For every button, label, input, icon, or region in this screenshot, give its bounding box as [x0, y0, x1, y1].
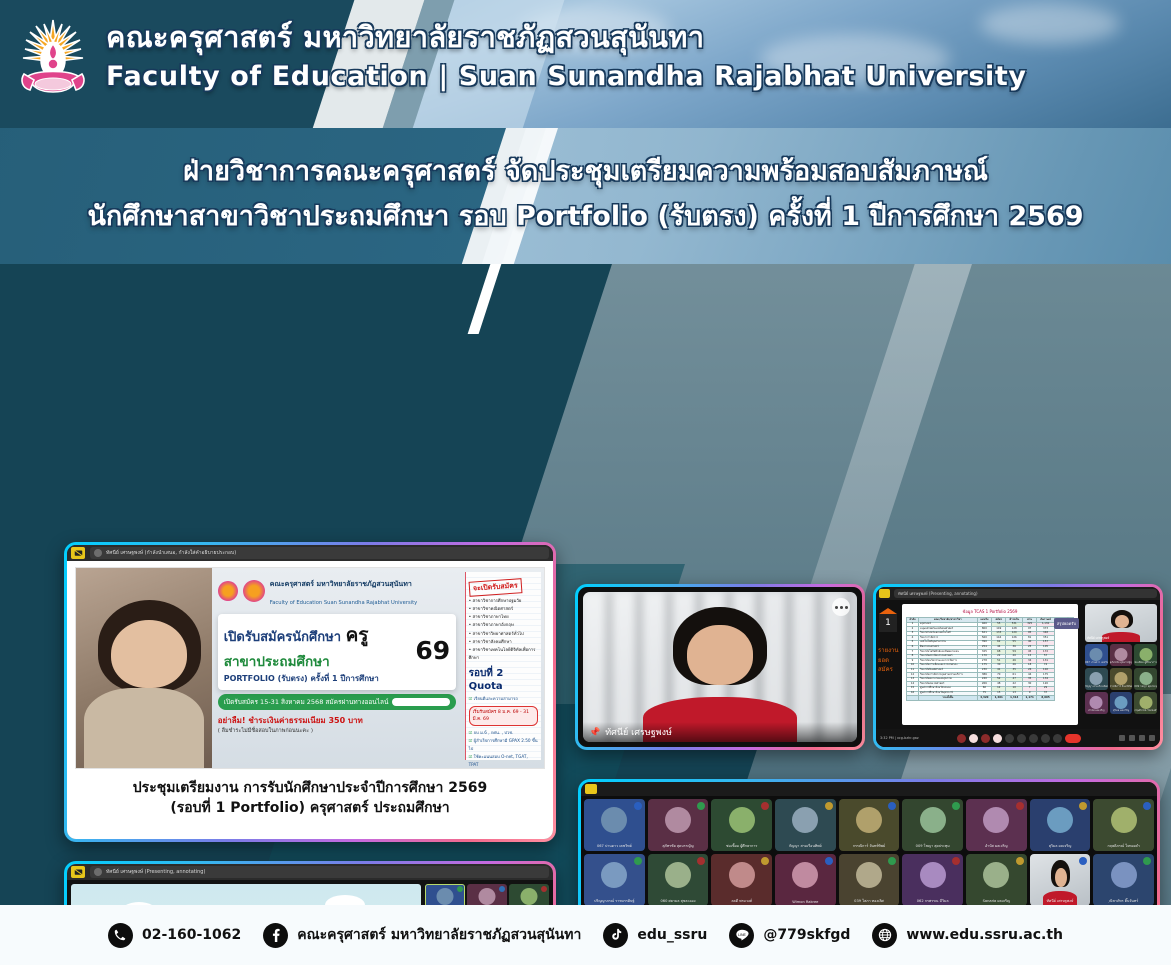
table-cell: [907, 696, 919, 701]
presenter-name: ทัศนีย์ เศรษฐพงษ์ (Presenting, annotatin…: [106, 868, 205, 876]
poster-requirements: จบ ม.6 , กศน. , ปวช. ผู้สำเร็จการศึกษามี…: [469, 729, 538, 769]
table-cell: 1,314: [1006, 696, 1023, 701]
participant-tile[interactable]: ทัศนีย์ เศรษฐพงษ์: [509, 884, 549, 905]
poster-caption: ประชุมเตรียมงาน การรับนักศึกษาประจำปีการ…: [75, 778, 545, 819]
avatar: [983, 862, 1009, 888]
shared-slide[interactable]: ประชุมกรรมการสัมภาษณ์ รับนศ.สาขาประถมศึก…: [71, 884, 421, 905]
participant-name: สุภัทรชัย สุดบรรญัญ: [1110, 661, 1133, 665]
poster-quota-label: รอบที่ 2: [469, 668, 504, 679]
header-title-block: คณะครุศาสตร์ มหาวิทยาลัยราชภัฏสวนสุนันทา…: [106, 18, 1027, 98]
admission-poster-image: คณะครุศาสตร์ มหาวิทยาลัยราชภัฏสวนสุนันทา…: [75, 567, 545, 769]
participant-name: 067 ปานดาว เตชวิทย์: [1085, 661, 1108, 665]
more-options-icon[interactable]: [832, 598, 850, 616]
avatar: [521, 888, 538, 905]
list-item: สาขาวิชาวิทยาศาสตร์ทั่วไป: [469, 631, 538, 639]
grid-wrapper: 067 ปานดาว เตชวิทย์สุภัทรชัย สุดบรรญัญช่…: [581, 796, 1157, 905]
participant-name: ลลดี พรมวงศ์: [711, 898, 772, 904]
mic-status-icon: [1079, 857, 1087, 865]
participant-name: อำนัส ผลเจริญ: [1085, 709, 1108, 713]
speaker-face: [1115, 615, 1129, 629]
avatar: [1139, 648, 1152, 661]
participant-name: 062 กรพรรณ มีวิมล: [902, 898, 963, 904]
report-right-controls[interactable]: [1119, 735, 1160, 741]
participant-tile[interactable]: 039 โสภา ทองเลิศ: [839, 854, 900, 905]
report-slide-title: ข้อมูล TCAS 1 Portfolio 2569: [906, 608, 1074, 615]
more-button[interactable]: [1053, 734, 1062, 743]
reactions-button[interactable]: [1017, 734, 1026, 743]
avatar: [856, 862, 882, 888]
phone-icon: [108, 923, 133, 948]
participant-name: ช่มเชื้อม ผู้ศึกษาการ: [711, 843, 772, 849]
screenshot-grid-panel[interactable]: 067 ปานดาว เตชวิทย์สุภัทรชัย สุดบรรญัญช่…: [578, 779, 1160, 905]
raise-hand-button[interactable]: [1041, 734, 1050, 743]
presenter-name-bar: 📌 ทัศนีย์ เศรษฐพงษ์: [583, 722, 857, 742]
footer-phone-text: 02-160-1062: [142, 927, 241, 943]
participant-tile[interactable]: อำนัส ผลเจริญ: [1085, 692, 1108, 714]
mic-status-icon: [761, 802, 769, 810]
line-icon: LINE: [729, 923, 754, 948]
table-cell: รวมทั้งสิ้น: [919, 696, 978, 701]
participant-tile[interactable]: กรรณิการ์ จันทร์ทิพย์: [839, 799, 900, 851]
avatar: [1114, 696, 1127, 709]
poster-caption-line1: ประชุมเตรียมงาน การรับนักศึกษาประจำปีการ…: [75, 778, 545, 798]
mic-status-icon: [541, 886, 547, 892]
header-title-thai: คณะครุศาสตร์ มหาวิทยาลัยราชภัฏสวนสุนันทา: [106, 18, 1027, 57]
list-item: สาขาวิชาการศึกษาปฐมวัย: [469, 598, 538, 606]
mic-status-icon: [1016, 857, 1024, 865]
screenshot-report-panel[interactable]: ทัศนีย์ เศรษฐพงษ์ (Presenting, annotatin…: [873, 584, 1163, 750]
list-item: สาขาวิชาภาษาอังกฤษ: [469, 622, 538, 630]
poster-round2-text: เริ่มรับสมัคร 8 ม.ค. 69 - 31 มี.ค. 69: [473, 710, 529, 722]
present-button[interactable]: [1005, 734, 1014, 743]
poster-org-thai: คณะครุศาสตร์ มหาวิทยาลัยราชภัฏสวนสุนันทา: [270, 580, 412, 588]
event-title-line2: นักศึกษาสาขาวิชาประถมศึกษา รอบ Portfolio…: [0, 195, 1171, 240]
footer-item-website[interactable]: www.edu.ssru.ac.th: [872, 923, 1063, 948]
avatar: [94, 868, 102, 876]
poster-side-column: จะเปิดรับสมัคร สาขาวิชาการศึกษาปฐมวัย สา…: [465, 572, 541, 760]
participant-name: ทัศนีย์ เศรษฐพงษ์: [1030, 898, 1091, 904]
list-item: สาขาวิชาเทคโนโลยีดิจิทัลเพื่อการศึกษา: [469, 647, 538, 663]
list-item: ใช้คะแนนสอบ O-net, TGAT, TPAT: [469, 753, 538, 769]
pin-icon: 📌: [589, 727, 600, 738]
grid-titlebar: [581, 782, 1157, 796]
participant-tile[interactable]: 067 ปานดาว เตชวิทย์: [1085, 644, 1108, 666]
participant-tile[interactable]: ลลดี พรมวงศ์: [711, 854, 772, 905]
avatar: [1090, 672, 1103, 685]
list-item: จบ ม.6 , กศน. , ปวช.: [469, 729, 538, 737]
table-cell: 1,401: [992, 696, 1006, 701]
mic-muted-icon[interactable]: [969, 734, 978, 743]
participant-tile[interactable]: สุภัทรชัย สุดบรรญัญ: [648, 799, 709, 851]
participant-name: สุภัทรชัย สุดบรรญัญ: [648, 843, 709, 849]
avatar: [479, 888, 496, 905]
cloud-shape: [325, 895, 365, 905]
ssru-emblem-logo: [16, 14, 90, 110]
avatar: [601, 862, 627, 888]
mic-status-icon: [457, 886, 463, 892]
participant-name: กฤษดิภรณ์ ใจทองคำ: [1093, 843, 1154, 849]
chat-icon[interactable]: [1139, 735, 1145, 741]
participant-tile[interactable]: กัญญา สามเรือนทิพย์: [1085, 668, 1108, 690]
participant-tile[interactable]: 009 โชญา สุดประทุม: [1134, 668, 1157, 690]
avatar: [1090, 648, 1103, 661]
list-item: สาขาวิชาสังคมศึกษา: [469, 639, 538, 647]
report-shared-screen: 1 รายงานยอดสมัคร ข้อมูล TCAS 1 Portfolio…: [876, 600, 1082, 747]
list-item: สาขาวิชาคณิตศาสตร์: [469, 606, 538, 614]
poster-fee-text: อย่าลืม! ชำระเงินค่าธรรมเนียม 350 บาท: [218, 716, 363, 725]
avatar: [920, 862, 946, 888]
page-footer: 02-160-1062 คณะครุศาสตร์ มหาวิทยาลัยราชภ…: [0, 905, 1171, 965]
participant-name: 009 โชญา สุดประทุม: [1134, 685, 1157, 689]
poster-quota-word: Quota: [469, 681, 503, 692]
participant-tile[interactable]: 060 ศยามล สุขละออง: [648, 854, 709, 905]
title-band: ฝ่ายวิชาการคณะครุศาสตร์ จัดประชุมเตรียมค…: [0, 128, 1171, 264]
presenter-video-tile[interactable]: 📌 ทัศนีย์ เศรษฐพงษ์: [583, 592, 857, 742]
poster-apply-text: เปิดรับสมัคร 15-31 สิงหาคม 2568 สมัครผ่า…: [224, 697, 389, 707]
participant-tile[interactable]: กฤษดิภรณ์ ใจทองคำ: [1134, 692, 1157, 714]
avatar: [1139, 672, 1152, 685]
poster-round2-bar: เริ่มรับสมัคร 8 ม.ค. 69 - 31 มี.ค. 69: [469, 706, 538, 726]
table-body: 1ครุศาสตร์460555313251,1302มนุษยศาสตร์แล…: [907, 622, 1074, 700]
screenshot-slide-panel[interactable]: ทัศนีย์ เศรษฐพงษ์ (Presenting, annotatin…: [64, 861, 556, 905]
screenshot-presenter-panel[interactable]: 📌 ทัศนีย์ เศรษฐพงษ์: [575, 584, 865, 750]
page-header: คณะครุศาสตร์ มหาวิทยาลัยราชภัฏสวนสุนันทา…: [0, 0, 1171, 128]
mic-status-icon: [888, 802, 896, 810]
poster-org-english: Faculty of Education Suan Sunandha Rajab…: [270, 600, 417, 606]
poster-quota-sub1: เรียนดีและความสามารถ: [469, 695, 538, 703]
participant-name: สุวิมล ผลเจริญ: [1110, 709, 1133, 713]
poster-majors-list: สาขาวิชาการศึกษาปฐมวัย สาขาวิชาคณิตศาสตร…: [469, 598, 538, 663]
avatar: [1090, 696, 1103, 709]
participant-tile[interactable]: กรรณิการ์ จันทร์ทิพย์: [1110, 668, 1133, 690]
list-item: ผู้สำเร็จการศึกษามี GPAX 2.50 ขึ้นไป: [469, 737, 538, 753]
apps-button[interactable]: [1029, 734, 1038, 743]
participant-tile[interactable]: สุวิมล ผลเจริญ: [1110, 692, 1133, 714]
slide-titlebar: ทัศนีย์ เศรษฐพงษ์ (Presenting, annotatin…: [67, 864, 553, 880]
meeting-titlebar: ทัศนีย์ เศรษฐพงษ์ (กำลังนำเสนอ, กำลังใส่…: [67, 545, 553, 561]
slide-stage: ประชุมกรรมการสัมภาษณ์ รับนศ.สาขาประถมศึก…: [67, 880, 553, 905]
participant-tile[interactable]: กรรณิการ์ จันทร์...: [425, 884, 465, 905]
participant-name: 067 ปานดาว เตชวิทย์: [584, 843, 645, 849]
hang-up-button[interactable]: [1065, 734, 1081, 743]
participant-name: กัญญา สามเรือนทิพย์: [1085, 685, 1108, 689]
participant-name: กัญญา สามเรือนทิพย์: [775, 843, 836, 849]
mic-status-icon: [634, 802, 642, 810]
screen-share-icon: [71, 547, 85, 559]
mic-status-icon: [499, 886, 505, 892]
footer-item-line[interactable]: LINE @779skfgd: [729, 923, 850, 948]
participant-name: 060 ศยามล สุขละออง: [648, 898, 709, 904]
screen-share-icon: [879, 589, 890, 598]
photo-face: [111, 620, 187, 688]
poster-quota-heading: รอบที่ 2 Quota: [469, 666, 538, 692]
poster-apply-bar: เปิดรับสมัคร 15-31 สิงหาคม 2568 สมัครผ่า…: [218, 694, 456, 710]
report-titlebar: ทัศนีย์ เศรษฐพงษ์ (Presenting, annotatin…: [876, 587, 1160, 600]
footer-item-tiktok[interactable]: edu_ssru: [603, 923, 707, 948]
mic-status-icon: [825, 802, 833, 810]
mic-status-icon: [888, 857, 896, 865]
poster-headline3: PORTFOLIO (รับตรง) ครั้งที่ 1 ปีการศึกษา: [224, 672, 450, 685]
participant-name: สุวิมล ผลเจริญ: [1030, 843, 1091, 849]
footer-website-text: www.edu.ssru.ac.th: [906, 927, 1063, 943]
poster-headline1-text: เปิดรับสมัครนักศึกษา: [224, 630, 341, 645]
participant-name: อำนัส ผลเจริญ: [966, 843, 1027, 849]
poster-body: คณะครุศาสตร์ มหาวิทยาลัยราชภัฏสวนสุนันทา…: [67, 561, 553, 839]
mic-status-icon: [952, 857, 960, 865]
video-f: [1055, 868, 1067, 888]
report-mini-tiles: 067 ปานดาว เตชวิทย์สุภัทรชัย สุดบรรญัญช่…: [1085, 644, 1157, 714]
avatar: [665, 862, 691, 888]
event-title: ฝ่ายวิชาการคณะครุศาสตร์ จัดประชุมเตรียมค…: [0, 150, 1171, 239]
participant-tile[interactable]: สุภัทรชัย สุดบรรญัญ: [1110, 644, 1133, 666]
participant-grid: 067 ปานดาว เตชวิทย์สุภัทรชัย สุดบรรญัญช่…: [584, 799, 1154, 905]
poster-headline-card: เปิดรับสมัครนักศึกษา ครู สาขาประถมศึกษา …: [218, 614, 456, 690]
white-slash-accent: [468, 264, 554, 334]
avatar: [1047, 807, 1073, 833]
mic-status-icon: [697, 802, 705, 810]
participant-tile[interactable]: Boonrudee Ud...: [467, 884, 507, 905]
mic-status-icon: [761, 857, 769, 865]
poster-url-box: [392, 698, 450, 706]
report-controls[interactable]: [919, 734, 1119, 743]
participant-tile[interactable]: 009 โชญา สุดประทุม: [902, 799, 963, 851]
participant-tile[interactable]: ช่มเชื้อม ผู้ศึกษาการ: [1134, 644, 1157, 666]
poster-quota-sub: เรียนดีและความสามารถ: [469, 695, 538, 703]
report-meeting-toolbar[interactable]: 3:32 PM | xcg-bzhr-gaz: [876, 729, 1160, 747]
screenshot-poster-panel[interactable]: ทัศนีย์ เศรษฐพงษ์ (กำลังนำเสนอ, กำลังใส่…: [64, 542, 556, 842]
report-table: ลำดับคณะ/วิทยาลัย/สาขาวิชาแผนรับสมัครชำร…: [906, 617, 1074, 701]
avatar: [856, 807, 882, 833]
avatar: [601, 807, 627, 833]
mic-status-icon: [634, 857, 642, 865]
slide-participant-rail: กรรณิการ์ จันทร์...Boonrudee Ud...ทัศนีย…: [425, 884, 549, 905]
mic-status-icon: [1143, 857, 1151, 865]
avatar: [983, 807, 1009, 833]
ssru-seal-icon: [243, 580, 265, 602]
report-time: 3:32 PM | xcg-bzhr-gaz: [876, 736, 919, 740]
presenter-pill: ทัศนีย์ เศรษฐพงษ์ (กำลังนำเสนอ, กำลังใส่…: [90, 547, 549, 559]
presenter-name: ทัศนีย์ เศรษฐพงษ์: [605, 725, 672, 739]
meeting-info-icon[interactable]: [1119, 735, 1125, 741]
mic-status-icon: [952, 802, 960, 810]
globe-icon: [872, 923, 897, 948]
participant-name: ฺณิชาภัทร ติ๊บจันทร์: [1093, 898, 1154, 904]
screen-share-icon: [71, 866, 85, 878]
participant-tile[interactable]: ฺณิชาภัทร ติ๊บจันทร์: [1093, 854, 1154, 905]
mic-status-icon: [1016, 802, 1024, 810]
avatar: [1114, 672, 1127, 685]
participant-tile[interactable]: Sanaria ผลเจริญ: [966, 854, 1027, 905]
mic-toggle-button[interactable]: [957, 734, 966, 743]
avatar: [94, 549, 102, 557]
avatar: [437, 888, 454, 905]
avatar: [665, 807, 691, 833]
participant-name: ปริญญาภรณ์ ราชบรรดิษฐ์: [584, 898, 645, 904]
avatar: [792, 862, 818, 888]
poster-caption-line2: (รอบที่ 1 Portfolio) ครุศาสตร์ ประถมศึกษ…: [75, 798, 545, 818]
poster-content: คณะครุศาสตร์ มหาวิทยาลัยราชภัฏสวนสุนันทา…: [212, 568, 544, 768]
footer-line-text: @779skfgd: [763, 927, 850, 943]
participant-tile[interactable]: ทัศนีย์ เศรษฐพงษ์: [1030, 854, 1091, 905]
table-cell: 4,320: [977, 696, 991, 701]
seal-icon: [218, 581, 238, 601]
participant-tile[interactable]: อำนัส ผลเจริญ: [966, 799, 1027, 851]
avatar: [1139, 696, 1152, 709]
report-side-label: รายงานยอดสมัคร: [878, 646, 899, 675]
participants-icon[interactable]: [1129, 735, 1135, 741]
photo-body: [84, 688, 203, 768]
table-cell: 8,005: [1037, 696, 1054, 701]
camera-toggle-button[interactable]: [981, 734, 990, 743]
participant-tile[interactable]: ปริญญาภรณ์ ราชบรรดิษฐ์: [584, 854, 645, 905]
poster-student-photo: [76, 568, 212, 768]
footer-tiktok-text: edu_ssru: [637, 927, 707, 943]
tiktok-icon: [603, 923, 628, 948]
footer-facebook-text: คณะครุศาสตร์ มหาวิทยาลัยราชภัฏสวนสุนันทา: [297, 924, 581, 946]
avatar: [1111, 807, 1137, 833]
report-tag-badge: สรุปยอดรับ: [1054, 618, 1079, 629]
header-title-english: Faculty of Education | Suan Sunandha Raj…: [106, 57, 1027, 98]
participant-name: Wimon Rakree: [775, 900, 836, 904]
avatar: [1111, 862, 1137, 888]
camera-off-icon[interactable]: [993, 734, 1002, 743]
avatar: [792, 807, 818, 833]
event-title-line1: ฝ่ายวิชาการคณะครุศาสตร์ จัดประชุมเตรียมค…: [0, 150, 1171, 195]
participant-name: ช่มเชื้อม ผู้ศึกษาการ: [1134, 661, 1157, 665]
footer-item-facebook[interactable]: คณะครุศาสตร์ มหาวิทยาลัยราชภัฏสวนสุนันทา: [263, 923, 581, 948]
mic-status-icon: [1079, 802, 1087, 810]
report-active-speaker-tile[interactable]: ทัศนีย์ เศรษฐพงษ์: [1085, 604, 1157, 642]
svg-text:LINE: LINE: [738, 933, 746, 937]
participant-tile[interactable]: 067 ปานดาว เตชวิทย์: [584, 799, 645, 851]
avatar: [729, 807, 755, 833]
table-total-row: รวมทั้งสิ้น4,3201,4011,3141,1718,005: [907, 696, 1074, 701]
participant-name: กรรณิการ์ จันทร์ทิพย์: [839, 843, 900, 849]
participant-name: Sanaria ผลเจริญ: [966, 898, 1027, 904]
mic-status-icon: [697, 857, 705, 865]
participant-name: 009 โชญา สุดประทุม: [902, 843, 963, 849]
report-body: 1 รายงานยอดสมัคร ข้อมูล TCAS 1 Portfolio…: [876, 600, 1160, 747]
speaker-name: ทัศนีย์ เศรษฐพงษ์: [1087, 636, 1109, 641]
presenter-face: [687, 625, 753, 685]
mic-status-icon: [1143, 802, 1151, 810]
avatar: [729, 862, 755, 888]
facebook-icon: [263, 923, 288, 948]
mic-status-icon: [825, 857, 833, 865]
avatar: [920, 807, 946, 833]
participant-tile[interactable]: ช่มเชื้อม ผู้ศึกษาการ: [711, 799, 772, 851]
presenter-name: ทัศนีย์ เศรษฐพงษ์ (กำลังนำเสนอ, กำลังใส่…: [106, 549, 236, 557]
report-participant-rail: ทัศนีย์ เศรษฐพงษ์ 067 ปานดาว เตชวิทย์สุภ…: [1082, 600, 1160, 747]
poster-headline1-big: ครู: [346, 624, 369, 646]
poster-year-big: 69: [415, 636, 450, 665]
slide-number-badge: 1: [879, 614, 897, 632]
poster-stamp: จะเปิดรับสมัคร: [468, 578, 522, 597]
participant-tile[interactable]: 062 กรพรรณ มีวิมล: [902, 854, 963, 905]
participant-tile[interactable]: Wimon Rakree: [775, 854, 836, 905]
footer-item-phone[interactable]: 02-160-1062: [108, 923, 241, 948]
activities-icon[interactable]: [1149, 735, 1155, 741]
participant-tile[interactable]: สุวิมล ผลเจริญ: [1030, 799, 1091, 851]
participant-name: กรรณิการ์ จันทร์ทิพย์: [1110, 685, 1133, 689]
screen-share-icon: [585, 784, 597, 794]
cloud-shape: [120, 902, 158, 905]
presenter-pill: ทัศนีย์ เศรษฐพงษ์ (Presenting, annotatin…: [90, 866, 549, 878]
avatar: [1114, 648, 1127, 661]
participant-tile[interactable]: กัญญา สามเรือนทิพย์: [775, 799, 836, 851]
report-slide: ข้อมูล TCAS 1 Portfolio 2569 ลำดับคณะ/วิ…: [902, 604, 1078, 725]
participant-name: กฤษดิภรณ์ ใจทองคำ: [1134, 709, 1157, 713]
report-presenter-name: ทัศนีย์ เศรษฐพงษ์ (Presenting, annotatin…: [894, 589, 1157, 598]
participant-tile[interactable]: กฤษดิภรณ์ ใจทองคำ: [1093, 799, 1154, 851]
table-cell: 1,171: [1022, 696, 1036, 701]
content-stage: ทัศนีย์ เศรษฐพงษ์ (กำลังนำเสนอ, กำลังใส่…: [0, 264, 1171, 905]
participant-name: 039 โสภา ทองเลิศ: [839, 898, 900, 904]
list-item: สาขาวิชาภาษาไทย: [469, 614, 538, 622]
